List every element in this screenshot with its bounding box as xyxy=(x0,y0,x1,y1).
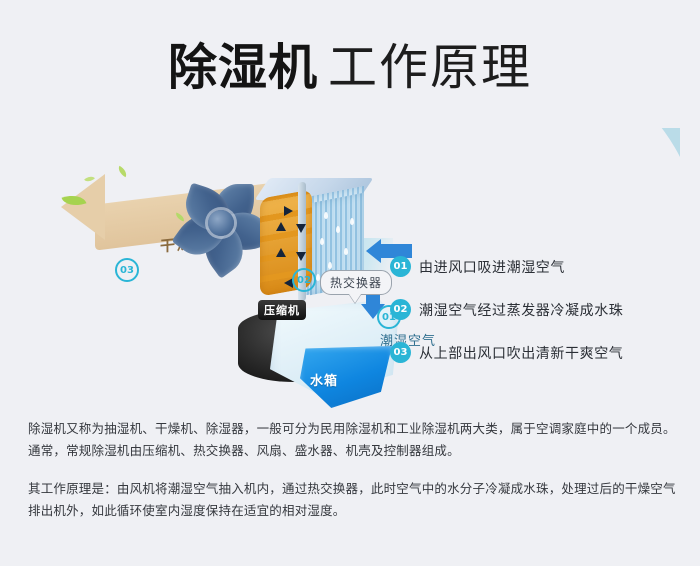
legend-item: 01 由进风口吸进潮湿空气 xyxy=(390,256,690,277)
page-title-light: 工作原理 xyxy=(328,39,532,96)
legend-item: 02 潮湿空气经过蒸发器冷凝成水珠 xyxy=(390,299,690,320)
legend-text-03: 从上部出风口吹出清新干爽空气 xyxy=(419,343,623,363)
legend-text-02: 潮湿空气经过蒸发器冷凝成水珠 xyxy=(419,300,623,320)
page-root: 除湿机工作原理 干燥空气 xyxy=(0,0,700,566)
page-title-strong: 除湿机 xyxy=(168,39,318,96)
leaf-icon xyxy=(116,166,129,178)
body-copy: 除湿机又称为抽湿机、干燥机、除湿器，一般可分为民用除湿机和工业除湿机两大类，属于… xyxy=(28,418,676,538)
diagram-badge-03: 03 xyxy=(115,258,139,282)
page-title: 除湿机工作原理 xyxy=(0,28,700,99)
body-paragraph-1: 除湿机又称为抽湿机、干燥机、除湿器，一般可分为民用除湿机和工业除湿机两大类，属于… xyxy=(28,418,676,462)
legend-badge-01: 01 xyxy=(390,256,411,277)
dry-air-arrow-head xyxy=(61,174,105,240)
water-tank-label: 水箱 xyxy=(310,370,338,389)
heat-exchanger-callout: 热交换器 xyxy=(320,270,392,295)
compressor-label: 压缩机 xyxy=(258,300,306,320)
steps-legend: 01 由进风口吸进潮湿空气 02 潮湿空气经过蒸发器冷凝成水珠 03 从上部出风… xyxy=(390,256,690,385)
legend-badge-02: 02 xyxy=(390,299,411,320)
diagram-badge-02: 02 xyxy=(292,268,316,292)
legend-item: 03 从上部出风口吹出清新干爽空气 xyxy=(390,342,690,363)
legend-text-01: 由进风口吸进潮湿空气 xyxy=(419,257,565,277)
body-paragraph-2: 其工作原理是：由风机将潮湿空气抽入机内，通过热交换器，此时空气中的水分子冷凝成水… xyxy=(28,478,676,522)
legend-badge-03: 03 xyxy=(390,342,411,363)
